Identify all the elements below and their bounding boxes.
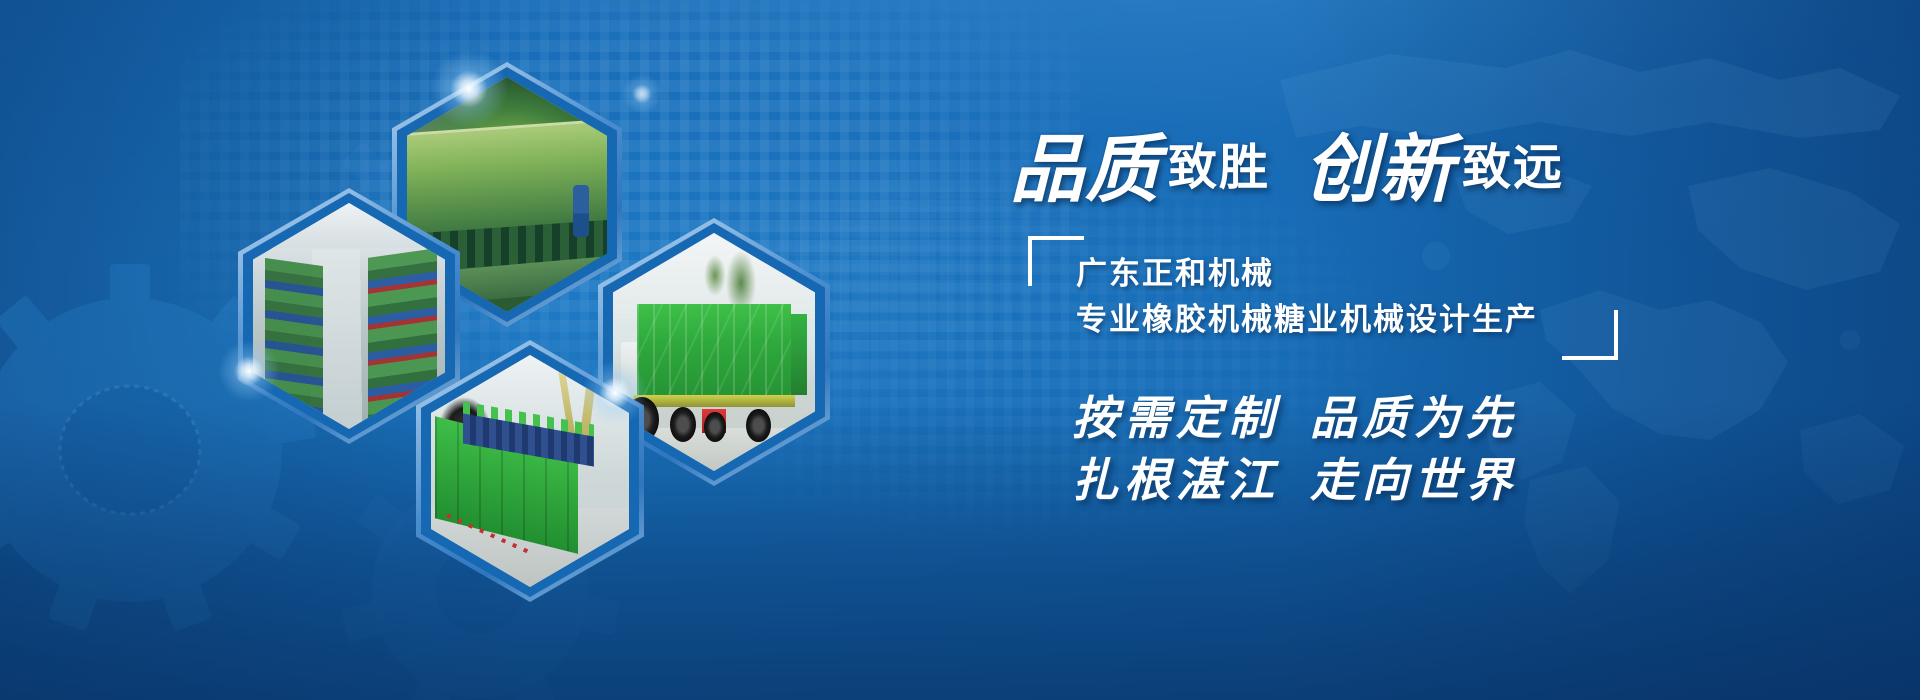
headline-part1-small: 致胜 [1160,141,1270,195]
bracket-bottom-right-icon [1562,310,1618,360]
headline: 品质致胜创新致远 [1010,110,1690,217]
company-name: 广东正和机械 [1076,248,1274,293]
headline-part1-big: 品质 [1010,130,1160,212]
slogan-1a: 按需定制 [1072,393,1280,444]
promo-banner: 品质致胜创新致远 广东正和机械 专业橡胶机械糖业机械设计生产 按需定制品质为先 … [0,0,1920,700]
company-subtitle-block: 广东正和机械 专业橡胶机械糖业机械设计生产 [1028,236,1618,354]
slogan-1b: 品质为先 [1310,393,1518,444]
headline-part2-big: 创新 [1304,130,1454,212]
hex-photo-conveyor[interactable] [416,340,644,602]
company-description: 专业橡胶机械糖业机械设计生产 [1076,294,1538,339]
headline-part2-small: 致远 [1454,141,1564,195]
slogan-2a: 扎根湛江 [1072,455,1280,506]
slogan-2b: 走向世界 [1310,455,1518,506]
slogan-line-1: 按需定制品质为先 [1072,382,1518,448]
slogan-line-2: 扎根湛江走向世界 [1072,444,1518,510]
hexagon-photo-cluster [230,40,850,600]
banner-text-content: 品质致胜创新致远 广东正和机械 专业橡胶机械糖业机械设计生产 按需定制品质为先 … [1010,96,1690,596]
sparkle-glow-icon [622,74,662,114]
